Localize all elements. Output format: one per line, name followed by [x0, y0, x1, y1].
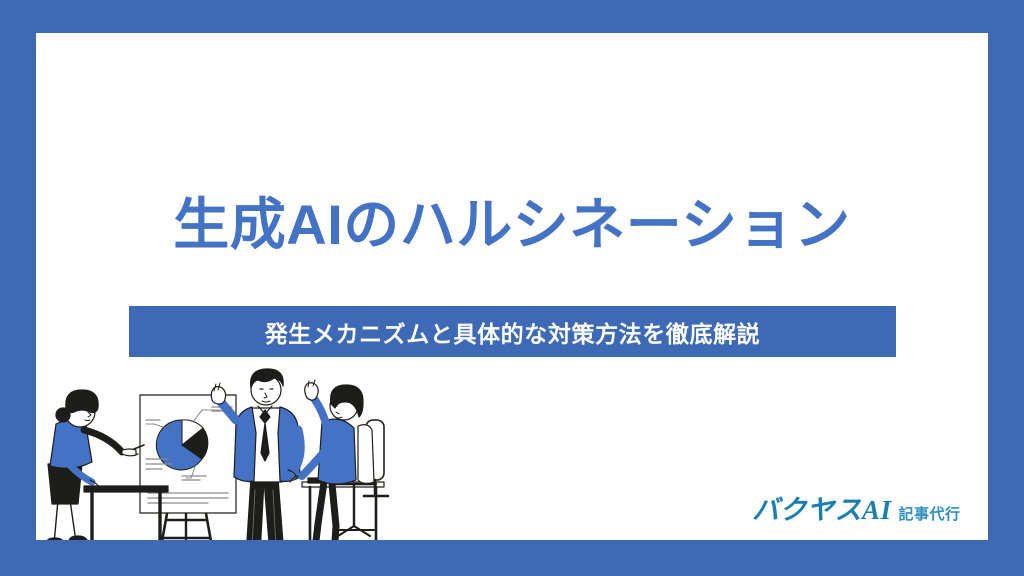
- brand-logo-subtitle: 記事代行: [899, 503, 961, 524]
- subtitle-band: 発生メカニズムと具体的な対策方法を徹底解説: [129, 306, 896, 357]
- page-title: 生成AIのハルシネーション: [36, 196, 988, 255]
- easel-flipchart-with-pie-chart: [140, 395, 236, 540]
- brand-logo-mark: バクヤスAI: [752, 488, 892, 527]
- subtitle-text: 発生メカニズムと具体的な対策方法を徹底解説: [265, 315, 761, 349]
- business-presentation-illustration: [36, 360, 436, 540]
- slide-frame: 生成AIのハルシネーション 発生メカニズムと具体的な対策方法を徹底解説: [0, 0, 1024, 576]
- brand-logo: バクヤスAI 記事代行: [752, 488, 961, 527]
- illustration-svg: [36, 360, 436, 540]
- woman-pointing-at-desk: [46, 390, 144, 540]
- slide-canvas: 生成AIのハルシネーション 発生メカニズムと具体的な対策方法を徹底解説: [36, 33, 988, 540]
